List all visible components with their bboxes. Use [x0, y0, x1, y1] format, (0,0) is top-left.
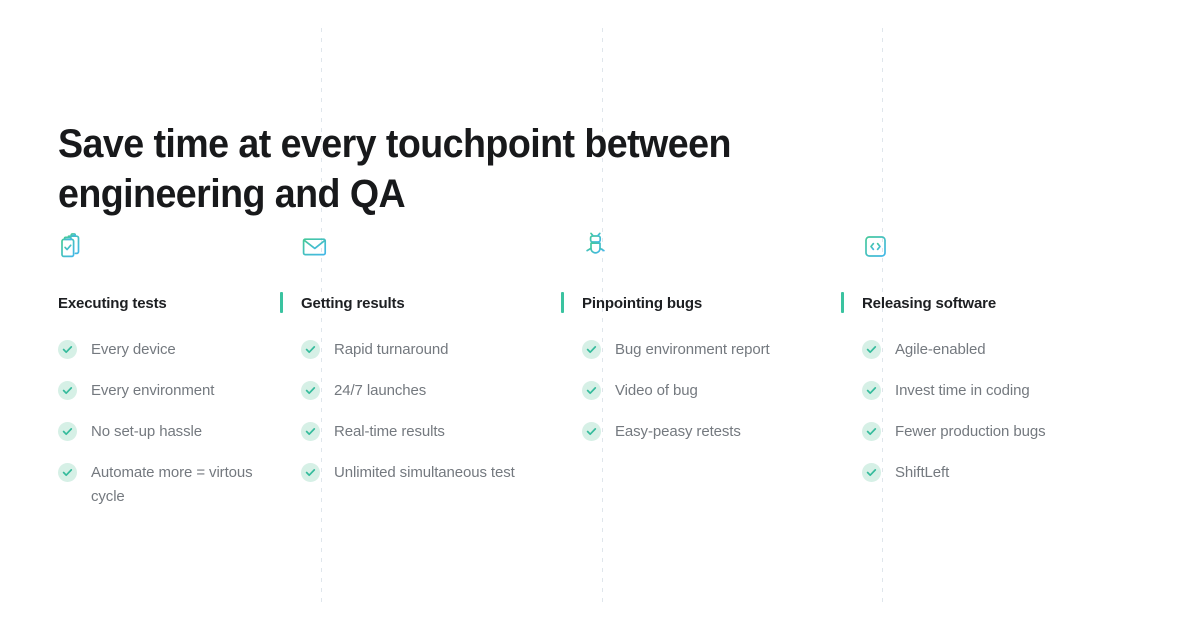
column-title: Pinpointing bugs [582, 295, 702, 312]
list-item: Invest time in coding [862, 379, 1176, 403]
feature-list: Agile-enabled Invest time in coding Fewe… [862, 338, 1176, 485]
list-item: 24/7 launches [301, 379, 538, 403]
list-item: Fewer production bugs [862, 420, 1176, 444]
list-item-label: Fewer production bugs [895, 420, 1046, 444]
list-item-label: Automate more = virtous cycle [91, 461, 257, 509]
feature-column-getting-results: Getting results Rapid turnaround 24/7 la… [281, 232, 562, 526]
check-circle-icon [58, 422, 77, 441]
column-title: Releasing software [862, 295, 996, 312]
list-item: Agile-enabled [862, 338, 1176, 362]
column-title: Executing tests [58, 295, 167, 312]
list-item: Every environment [58, 379, 257, 403]
list-item-label: Every environment [91, 379, 214, 403]
check-circle-icon [301, 463, 320, 482]
accent-bar [561, 292, 564, 313]
check-circle-icon [862, 463, 881, 482]
feature-column-releasing-software: Releasing software Agile-enabled Invest … [842, 232, 1200, 526]
feature-list: Bug environment report Video of bug Easy… [582, 338, 818, 444]
check-circle-icon [862, 381, 881, 400]
list-item-label: Easy-peasy retests [615, 420, 741, 444]
check-circle-icon [58, 381, 77, 400]
feature-column-executing-tests: Executing tests Every device Every envir… [0, 232, 281, 526]
list-item: Easy-peasy retests [582, 420, 818, 444]
accent-bar [280, 292, 283, 313]
list-item-label: Every device [91, 338, 176, 362]
list-item: Unlimited simultaneous test [301, 461, 538, 485]
list-item-label: 24/7 launches [334, 379, 426, 403]
list-item-label: No set-up hassle [91, 420, 202, 444]
feature-column-pinpointing-bugs: Pinpointing bugs Bug environment report … [562, 232, 842, 526]
check-circle-icon [862, 422, 881, 441]
column-title-row: Executing tests [58, 292, 257, 314]
feature-columns: Executing tests Every device Every envir… [0, 232, 1200, 526]
envelope-icon [301, 232, 538, 266]
check-circle-icon [582, 340, 601, 359]
list-item: No set-up hassle [58, 420, 257, 444]
check-circle-icon [58, 340, 77, 359]
column-title: Getting results [301, 295, 405, 312]
feature-list: Every device Every environment No set-up… [58, 338, 257, 509]
list-item: Rapid turnaround [301, 338, 538, 362]
feature-list: Rapid turnaround 24/7 launches Real-time… [301, 338, 538, 485]
column-title-row: Releasing software [862, 292, 1176, 314]
feature-columns-page: Save time at every touchpoint between en… [0, 0, 1200, 630]
check-circle-icon [862, 340, 881, 359]
column-title-row: Getting results [301, 292, 538, 314]
code-brackets-icon [862, 232, 1176, 266]
check-circle-icon [58, 463, 77, 482]
check-circle-icon [582, 381, 601, 400]
list-item-label: Bug environment report [615, 338, 770, 362]
list-item: Real-time results [301, 420, 538, 444]
bug-icon [582, 232, 818, 266]
list-item-label: Rapid turnaround [334, 338, 448, 362]
check-circle-icon [301, 340, 320, 359]
list-item: Automate more = virtous cycle [58, 461, 257, 509]
check-circle-icon [582, 422, 601, 441]
page-title: Save time at every touchpoint between en… [58, 119, 772, 219]
accent-bar [841, 292, 844, 313]
list-item: Video of bug [582, 379, 818, 403]
check-circle-icon [301, 422, 320, 441]
list-item: Every device [58, 338, 257, 362]
list-item-label: Real-time results [334, 420, 445, 444]
column-title-row: Pinpointing bugs [582, 292, 818, 314]
list-item-label: ShiftLeft [895, 461, 949, 485]
list-item-label: Agile-enabled [895, 338, 985, 362]
check-circle-icon [301, 381, 320, 400]
list-item: ShiftLeft [862, 461, 1176, 485]
list-item-label: Invest time in coding [895, 379, 1030, 403]
list-item-label: Video of bug [615, 379, 698, 403]
list-item-label: Unlimited simultaneous test [334, 461, 515, 485]
list-item: Bug environment report [582, 338, 818, 362]
clipboard-check-icon [58, 232, 257, 266]
